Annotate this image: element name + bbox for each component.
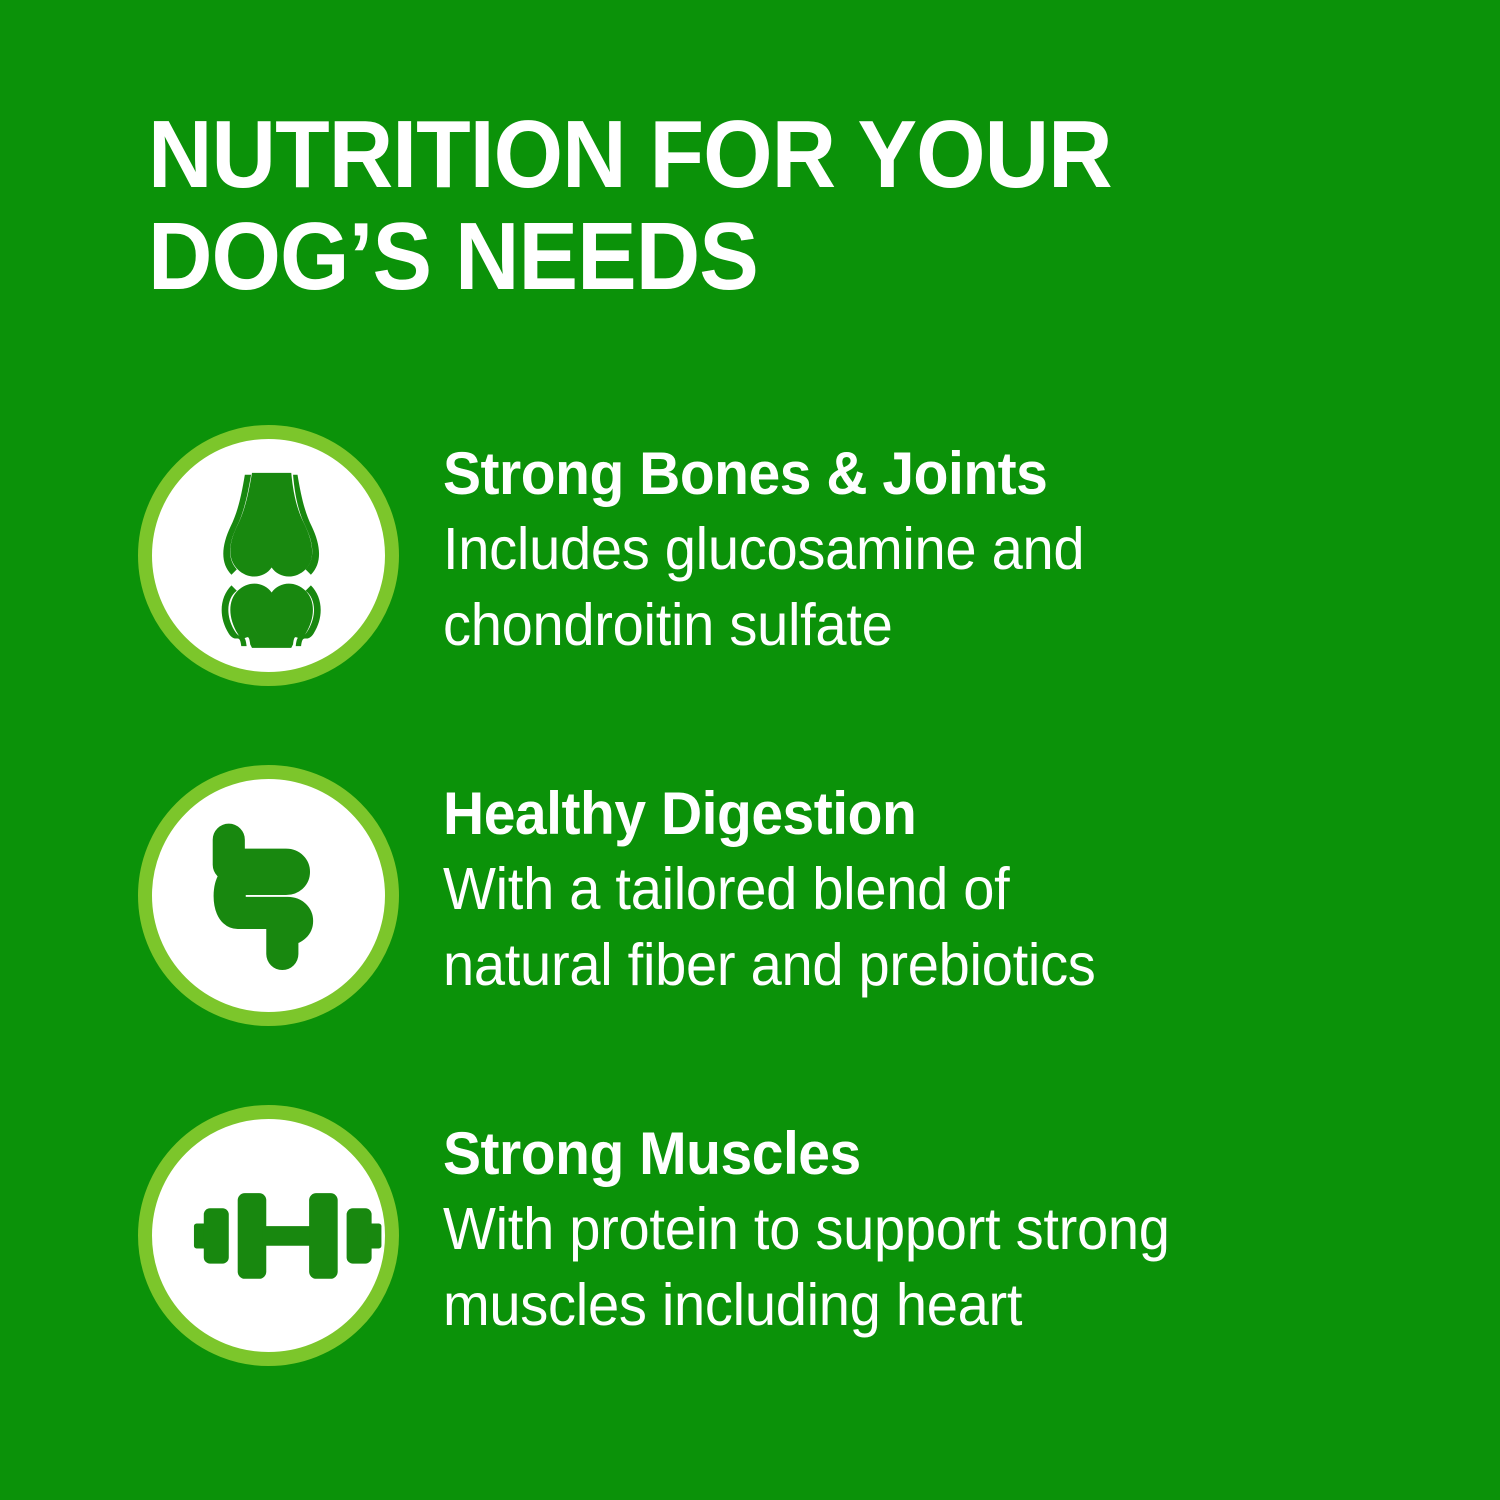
feature-title: Healthy Digestion <box>443 777 1403 851</box>
feature-title: Strong Bones & Joints <box>443 437 1403 511</box>
intestine-icon <box>152 779 385 1012</box>
dumbbell-icon-badge <box>138 1105 399 1366</box>
feature-item-bones-joints: Strong Bones & Joints Includes glucosami… <box>0 425 1500 765</box>
feature-item-digestion: Healthy Digestion With a tailored blend … <box>0 765 1500 1105</box>
bone-joint-icon <box>152 439 385 672</box>
feature-description: With protein to support strong muscles i… <box>443 1191 1403 1343</box>
feature-description: With a tailored blend of natural fiber a… <box>443 851 1403 1003</box>
feature-text-muscles: Strong Muscles With protein to support s… <box>443 1117 1453 1343</box>
nutrition-poster: NUTRITION FOR YOUR DOG’S NEEDS <box>0 0 1500 1500</box>
intestine-icon-badge <box>138 765 399 1026</box>
bone-joint-icon-badge <box>138 425 399 686</box>
feature-item-muscles: Strong Muscles With protein to support s… <box>0 1105 1500 1445</box>
dumbbell-icon <box>152 1119 385 1352</box>
feature-text-bones-joints: Strong Bones & Joints Includes glucosami… <box>443 437 1453 663</box>
feature-description: Includes glucosamine and chondroitin sul… <box>443 511 1403 663</box>
page-title: NUTRITION FOR YOUR DOG’S NEEDS <box>148 104 1283 308</box>
feature-text-digestion: Healthy Digestion With a tailored blend … <box>443 777 1453 1003</box>
feature-list: Strong Bones & Joints Includes glucosami… <box>0 425 1500 1445</box>
feature-title: Strong Muscles <box>443 1117 1403 1191</box>
